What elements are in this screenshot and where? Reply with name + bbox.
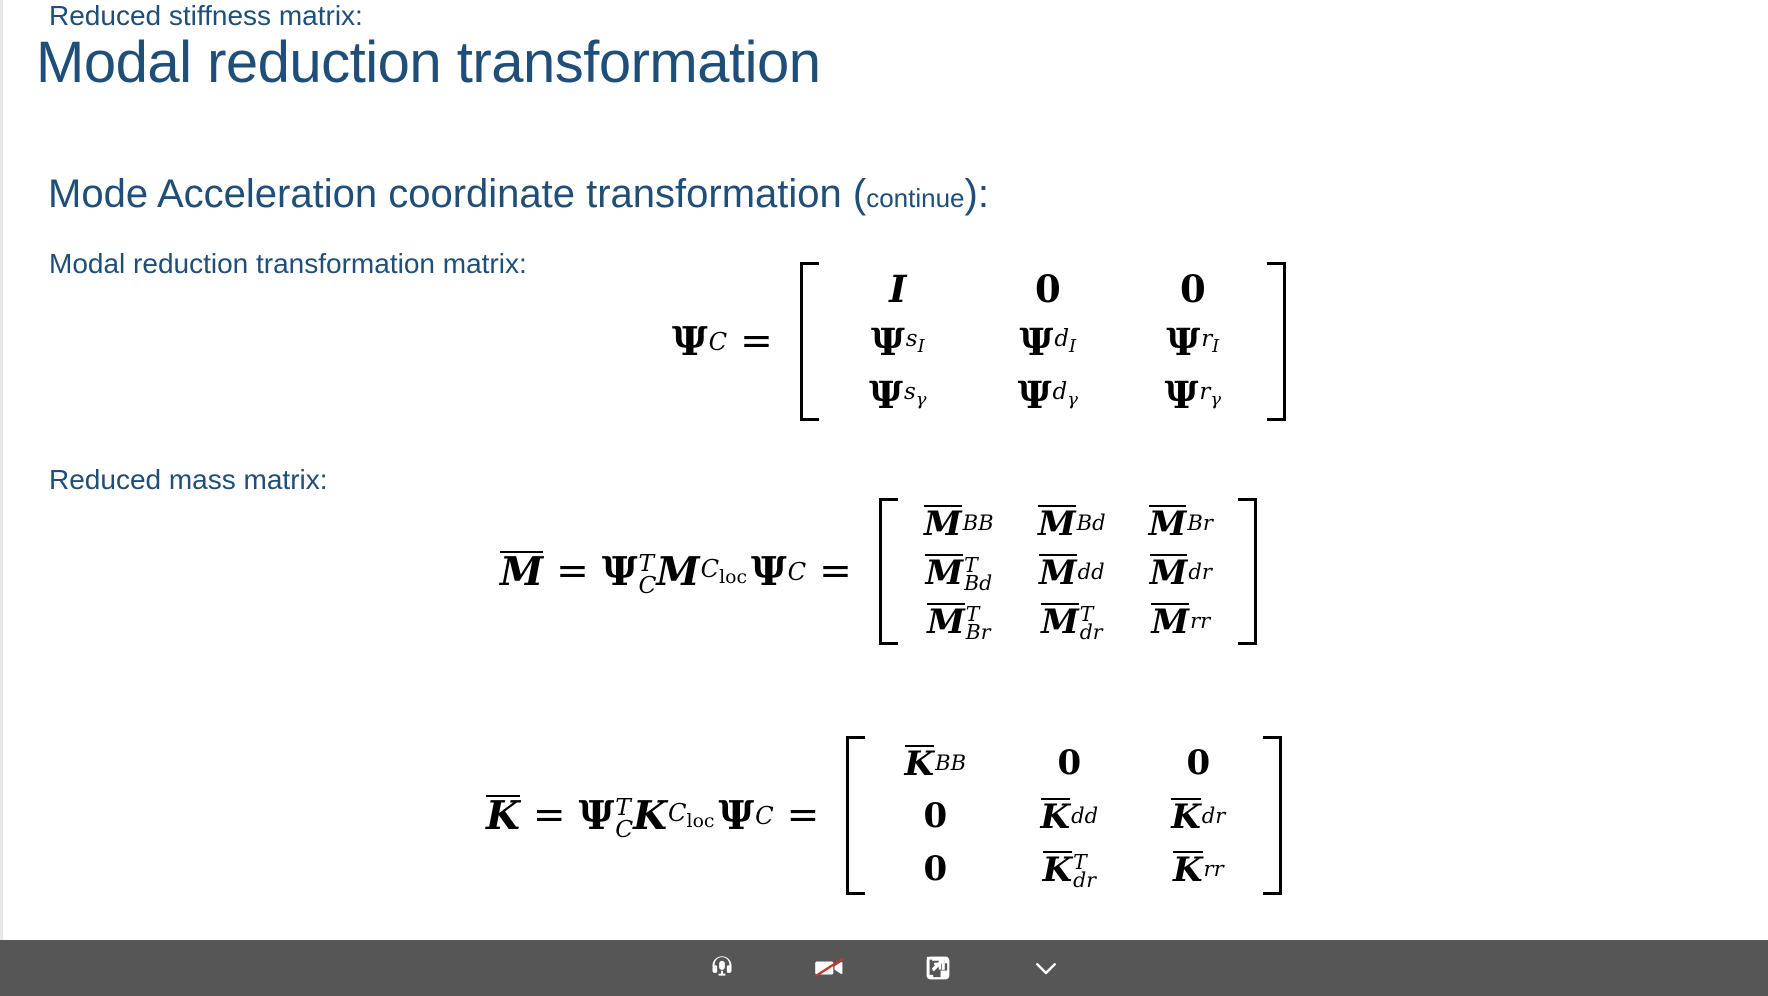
matrix-subscript: rr: [1204, 856, 1224, 881]
headset-icon[interactable]: [699, 948, 745, 988]
matrix-base-symbol: 0: [923, 796, 947, 836]
matrix-subscript: rγ: [1199, 379, 1221, 409]
chevron-down-icon[interactable]: [1023, 948, 1069, 988]
page-title: Modal reduction transformation: [36, 33, 821, 94]
bracket-left: [879, 498, 898, 645]
psi-subscript-2: C: [788, 558, 807, 586]
matrix-cell-r1c3: 0: [1123, 262, 1263, 315]
matrix-base-symbol: K: [1173, 850, 1203, 890]
equation-transformation-matrix: ΨC = I00ΨsIΨdIΨrIΨsγΨdγΨrγ: [672, 262, 1286, 421]
label-transformation-matrix: Modal reduction transformation matrix:: [49, 248, 527, 280]
psi-subscript: C: [709, 328, 728, 356]
matrix-base-symbol: M: [1041, 602, 1079, 642]
meeting-toolbar: [0, 940, 1768, 996]
matrix-cell-r2c1: MTBd: [902, 547, 1016, 596]
matrix-cell-r2c3: Kdr: [1137, 789, 1259, 842]
matrix-subscript: dr: [1188, 559, 1212, 584]
matrix-subscript: BB: [935, 750, 966, 775]
matrix-base-symbol: 0: [1180, 267, 1206, 311]
matrix-subscript: rI: [1201, 326, 1219, 356]
equation-lhs: M = ΨTC MCloc ΨC =: [500, 549, 879, 595]
equals-sign-2: =: [774, 793, 833, 838]
equals-sign: =: [727, 319, 786, 364]
matrix-cell-r2c3: ΨrI: [1123, 315, 1263, 368]
equation-lhs: ΨC =: [672, 319, 800, 365]
overbar: M: [1041, 603, 1079, 638]
matrix-subscript: sγ: [904, 379, 926, 409]
matrix-base-symbol: M: [927, 602, 965, 642]
label-reduced-mass-matrix: Reduced mass matrix:: [49, 464, 328, 496]
presentation-slide: Modal reduction transformation Mode Acce…: [0, 0, 1768, 940]
psi-symbol: Ψ: [602, 549, 638, 595]
matrix-cell-r2c1: ΨsI: [823, 315, 973, 368]
psi-symbol: Ψ: [579, 793, 615, 839]
matrix-grid: I00ΨsIΨdIΨrIΨsγΨdγΨrγ: [823, 262, 1263, 421]
overbar: K: [905, 745, 935, 780]
matrix-sup-sub: TBr: [966, 605, 991, 639]
matrix-subscript: Bd: [1077, 510, 1106, 535]
matrix-cell-r1c1: MBB: [902, 498, 1016, 547]
bracket-right: [1263, 736, 1282, 895]
matrix-base-symbol: M: [924, 504, 962, 544]
matrix-subscript: dI: [1054, 326, 1076, 356]
psi-symbol-2: Ψ: [718, 793, 754, 839]
matrix-base-symbol: I: [889, 267, 906, 311]
psi-symbol: Ψ: [672, 319, 708, 365]
matrix-cell-r1c2: 0: [1001, 736, 1137, 789]
matrix-base-symbol: 0: [923, 849, 947, 889]
matrix-cell-r1c2: 0: [973, 262, 1123, 315]
matrix-sup-sub: Tdr: [1080, 605, 1103, 639]
share-screen-icon[interactable]: [915, 948, 961, 988]
equals-sign: =: [543, 549, 602, 594]
matrix-base-symbol: M: [1038, 504, 1076, 544]
overbar: M: [1039, 554, 1077, 589]
overbar: M: [1151, 603, 1189, 638]
psi-subscript-2: C: [755, 802, 774, 830]
matrix-subscript: sI: [906, 326, 925, 356]
overbar: K: [1171, 798, 1201, 833]
equals-sign: =: [520, 793, 579, 838]
matrix-base-symbol: M: [1151, 602, 1189, 642]
overbar: K: [1041, 798, 1071, 833]
k-symbol: K: [633, 793, 667, 839]
matrix-base-symbol: K: [905, 744, 935, 784]
matrix-base-symbol: 0: [1057, 743, 1081, 783]
matrix-cell-r3c1: Ψsγ: [823, 368, 973, 421]
matrix-cell-r2c1: 0: [869, 789, 1001, 842]
matrix-base-symbol: Ψ: [1166, 320, 1200, 364]
overbar: M: [925, 554, 963, 589]
camera-off-icon[interactable]: [807, 948, 853, 988]
k-subscript-cloc: Cloc: [668, 799, 714, 832]
subtitle-main: Mode Acceleration coordinate transformat…: [48, 172, 866, 216]
overbar: M: [1150, 554, 1188, 589]
bracket-left: [800, 262, 819, 421]
matrix-cell-r1c3: MBr: [1128, 498, 1234, 547]
matrix-subscript: BB: [963, 510, 994, 535]
matrix-subscript: dd: [1071, 803, 1098, 828]
m-bar-symbol: M: [500, 551, 543, 591]
slide-left-edge: [0, 0, 3, 940]
matrix-base-symbol: M: [1150, 553, 1188, 593]
matrix-subscript: dγ: [1053, 379, 1078, 409]
matrix-base-symbol: Ψ: [1018, 373, 1052, 417]
matrix-cell-r3c2: KTdr: [1001, 842, 1137, 895]
bracket-right: [1238, 498, 1257, 645]
matrix-cell-r1c1: I: [823, 262, 973, 315]
equation-reduced-mass: M = ΨTC MCloc ΨC = MBBMBdMBrMTBdMddMdrMT…: [500, 498, 1257, 645]
matrix-cell-r2c2: Kdd: [1001, 789, 1137, 842]
matrix-base-symbol: Ψ: [871, 320, 905, 364]
psi-symbol-2: Ψ: [751, 549, 787, 595]
matrix-cell-r2c3: Mdr: [1128, 547, 1234, 596]
matrix-grid: KBB000KddKdr0KTdrKrr: [869, 736, 1259, 895]
matrix-psi-c: I00ΨsIΨdIΨrIΨsγΨdγΨrγ: [800, 262, 1286, 421]
matrix-cell-r1c2: MBd: [1016, 498, 1128, 547]
m-subscript-cloc: Cloc: [701, 555, 747, 588]
matrix-subscript: Br: [1187, 510, 1213, 535]
matrix-base-symbol: K: [1043, 850, 1073, 890]
overbar: K: [1173, 851, 1203, 886]
matrix-sup-sub: TBd: [964, 556, 992, 590]
equals-sign-2: =: [806, 549, 865, 594]
overbar: M: [924, 505, 962, 540]
matrix-subscript: rr: [1190, 608, 1210, 633]
bracket-right: [1267, 262, 1286, 421]
matrix-cell-r3c3: Mrr: [1128, 596, 1234, 645]
overbar: M: [1038, 505, 1076, 540]
matrix-grid: MBBMBdMBrMTBdMddMdrMTBrMTdrMrr: [902, 498, 1234, 645]
matrix-sup-sub: Tdr: [1073, 853, 1096, 887]
equation-reduced-stiffness: K = ΨTC KCloc ΨC = KBB000KddKdr0KTdrKrr: [486, 736, 1282, 895]
overbar: M: [1149, 505, 1187, 540]
matrix-subscript: dd: [1078, 559, 1105, 584]
matrix-cell-r3c1: 0: [869, 842, 1001, 895]
matrix-base-symbol: M: [1039, 553, 1077, 593]
matrix-m-bar: MBBMBdMBrMTBdMddMdrMTBrMTdrMrr: [879, 498, 1257, 645]
matrix-cell-r3c2: MTdr: [1016, 596, 1128, 645]
matrix-cell-r2c2: Mdd: [1016, 547, 1128, 596]
matrix-base-symbol: K: [1041, 797, 1071, 837]
psi-transpose-c: TC: [615, 797, 633, 836]
matrix-base-symbol: Ψ: [1020, 320, 1054, 364]
matrix-k-bar: KBB000KddKdr0KTdrKrr: [846, 736, 1282, 895]
matrix-cell-r3c3: Krr: [1137, 842, 1259, 895]
matrix-subscript: dr: [1202, 803, 1226, 828]
psi-transpose-c: TC: [638, 553, 656, 592]
matrix-cell-r3c1: MTBr: [902, 596, 1016, 645]
matrix-base-symbol: M: [1149, 504, 1187, 544]
overbar: K: [1043, 851, 1073, 886]
overbar: M: [927, 603, 965, 638]
matrix-cell-r1c1: KBB: [869, 736, 1001, 789]
matrix-base-symbol: K: [1171, 797, 1201, 837]
bracket-left: [846, 736, 865, 895]
matrix-cell-r3c2: Ψdγ: [973, 368, 1123, 421]
matrix-base-symbol: Ψ: [1165, 373, 1199, 417]
matrix-base-symbol: 0: [1035, 267, 1061, 311]
label-reduced-stiffness-matrix: Reduced stiffness matrix:: [49, 0, 363, 32]
matrix-cell-r3c3: Ψrγ: [1123, 368, 1263, 421]
matrix-base-symbol: M: [925, 553, 963, 593]
matrix-cell-r2c2: ΨdI: [973, 315, 1123, 368]
matrix-cell-r1c3: 0: [1137, 736, 1259, 789]
subtitle-tail: ):: [965, 172, 989, 216]
m-symbol: M: [656, 549, 699, 595]
k-bar-symbol: K: [486, 795, 520, 835]
matrix-base-symbol: 0: [1186, 743, 1210, 783]
slide-subtitle: Mode Acceleration coordinate transformat…: [48, 172, 989, 217]
equation-lhs: K = ΨTC KCloc ΨC =: [486, 793, 846, 839]
matrix-base-symbol: Ψ: [869, 373, 903, 417]
subtitle-small: continue: [866, 183, 964, 213]
